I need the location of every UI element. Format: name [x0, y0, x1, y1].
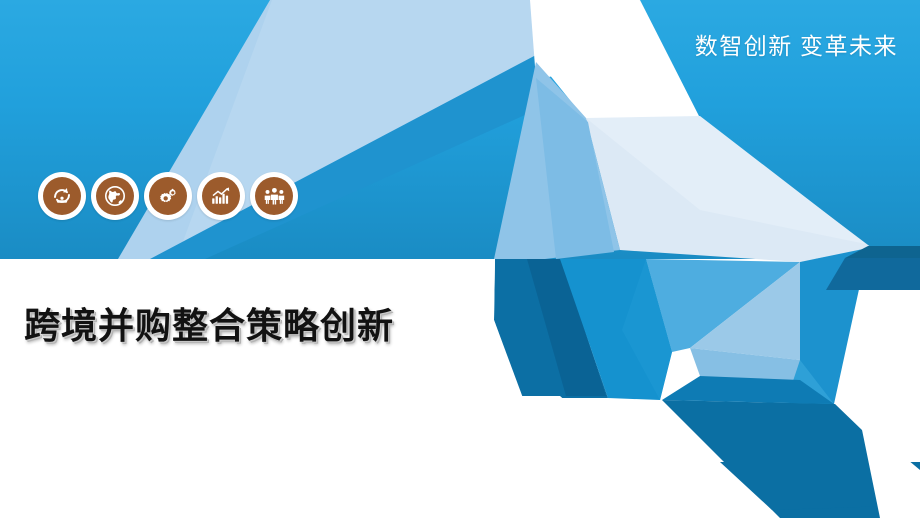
icon-badge-recycle-arrow[interactable] [38, 172, 86, 220]
people-group-icon [255, 177, 293, 215]
shard-lower-diagonal-bar-edge [662, 376, 834, 404]
shard-lower-navy-left [494, 259, 608, 398]
icon-badge-gears[interactable] [144, 172, 192, 220]
mask-white-right-lower [860, 420, 920, 518]
icon-badge-people-group[interactable] [250, 172, 298, 220]
shard-lower-navy-left-dark [527, 259, 606, 396]
shard-lower-diagonal-bar [662, 400, 920, 518]
mask-white-left-lower [0, 396, 700, 518]
gears-icon [149, 177, 187, 215]
page-title: 跨境并购整合策略创新 [24, 297, 394, 349]
globe-icon [96, 177, 134, 215]
shard-bottom-right-tail [720, 462, 920, 510]
shard-lower-azure-left [560, 259, 672, 400]
shard-lower-sky-center [646, 259, 800, 352]
shard-band-left-dark [150, 259, 494, 272]
slide-canvas: 数智创新 变革未来 [0, 0, 920, 518]
icon-badge-bar-chart-growth[interactable] [197, 172, 245, 220]
shard-lower-light-right-b [690, 348, 800, 392]
shard-right-deep-navy-2 [826, 258, 920, 290]
shard-lower-sky-center-b [622, 259, 672, 400]
tagline: 数智创新 变革未来 [695, 27, 898, 61]
shard-lower-blue-rightleg [800, 248, 868, 404]
icon-row [38, 172, 298, 220]
shard-lower-light-right [690, 262, 800, 360]
icon-badge-globe[interactable] [91, 172, 139, 220]
shard-lower-blue-rightleg-b [790, 360, 834, 424]
recycle-arrow-icon [43, 177, 81, 215]
bar-chart-growth-icon [202, 177, 240, 215]
